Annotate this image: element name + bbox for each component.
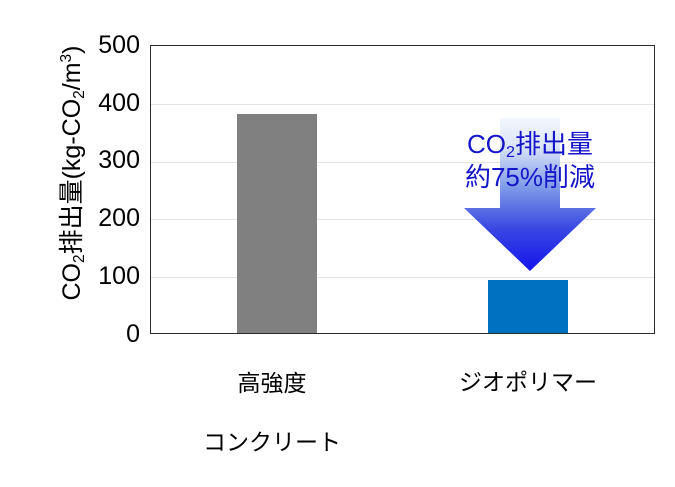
y-tick-label-200: 200: [62, 206, 140, 231]
gridline-200: [151, 219, 654, 220]
callout-line-2: 約75%削減: [395, 161, 665, 194]
callout-co2-suffix: 排出量: [515, 129, 593, 159]
callout-line-1: CO2排出量: [395, 128, 665, 161]
y-tick-label-0: 0: [62, 322, 140, 347]
y-axis-tick-labels: 500 400 300 200 100 0: [62, 0, 140, 430]
callout-co2-sub: 2: [506, 143, 515, 161]
x-label-line-2: コンクリート: [182, 428, 362, 457]
callout-co2-prefix: CO: [467, 129, 506, 159]
y-tick-label-400: 400: [62, 91, 140, 116]
bar-high-strength-concrete: [237, 114, 317, 333]
x-label-high-strength-concrete: 高強度 コンクリート: [182, 340, 362, 487]
x-label-geopolymer: ジオポリマー: [438, 368, 618, 397]
gridline-100: [151, 277, 654, 278]
reduction-callout-text: CO2排出量 約75%削減: [395, 128, 665, 195]
y-tick-label-300: 300: [62, 148, 140, 173]
x-label-line-1: 高強度: [182, 369, 362, 398]
co2-emissions-bar-chart: CO2排出量(kg-CO2/m3) 500 400 300 200 100 0 …: [0, 0, 675, 430]
y-tick-label-100: 100: [62, 264, 140, 289]
gridline-400: [151, 104, 654, 105]
bar-geopolymer: [488, 280, 568, 333]
y-tick-label-500: 500: [62, 33, 140, 58]
